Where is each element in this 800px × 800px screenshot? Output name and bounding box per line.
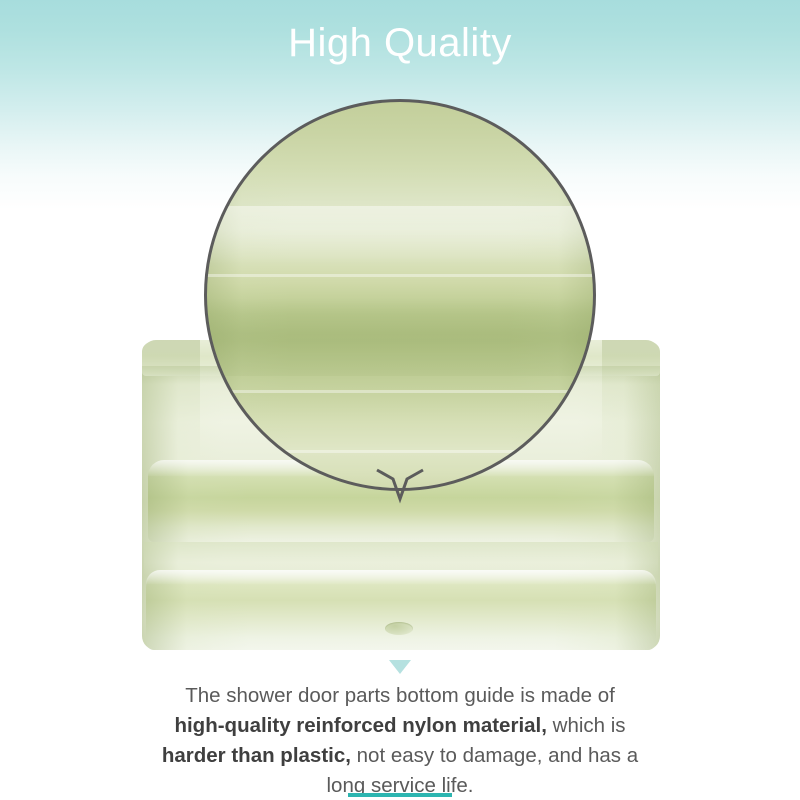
description-emphasis: high-quality reinforced nylon material, xyxy=(174,714,546,737)
chevron-down-icon xyxy=(389,660,411,674)
description-line: The shower door parts bottom guide is ma… xyxy=(100,681,700,711)
magnified-detail-bubble xyxy=(204,99,596,491)
magnifier-seam-line xyxy=(207,390,593,393)
product-right-flare xyxy=(602,340,660,460)
magnifier-seam-line xyxy=(207,274,593,277)
magnifier-tail xyxy=(376,466,424,508)
description-text: The shower door parts bottom guide is ma… xyxy=(185,684,615,707)
description-text: which is xyxy=(547,714,626,737)
product-left-flare xyxy=(142,340,200,460)
product-infographic-canvas: High Quality The shower door parts botto… xyxy=(0,0,800,800)
mounting-hole xyxy=(385,622,413,635)
product-description: The shower door parts bottom guide is ma… xyxy=(100,681,700,800)
magnifier-highlight-band xyxy=(207,206,593,264)
description-emphasis: harder than plastic, xyxy=(162,744,351,767)
magnifier-seam-line xyxy=(207,450,593,453)
description-line: harder than plastic, not easy to damage,… xyxy=(100,741,700,771)
description-text: not easy to damage, and has a xyxy=(351,744,638,767)
magnifier-shadow-band xyxy=(207,298,593,376)
product-bottom-rail-highlight xyxy=(146,570,656,584)
accent-rule xyxy=(348,793,452,797)
description-line: high-quality reinforced nylon material, … xyxy=(100,711,700,741)
page-title: High Quality xyxy=(0,16,800,70)
